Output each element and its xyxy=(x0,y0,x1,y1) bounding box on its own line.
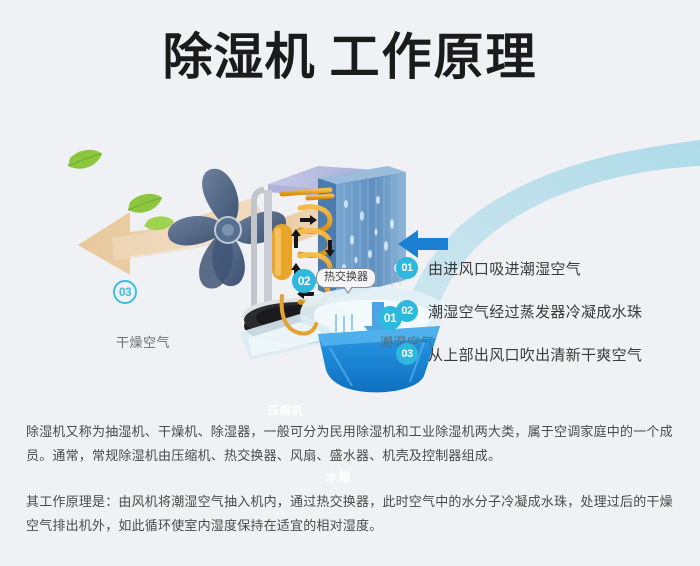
step-badge-02: 02 xyxy=(396,300,418,322)
step-text-03: 从上部出风口吹出清新干爽空气 xyxy=(428,344,642,365)
page-title: 除湿机工作原理 xyxy=(0,32,700,82)
diagram-badge-03: 03 xyxy=(113,280,137,304)
page-title-sub: 工作原理 xyxy=(330,29,538,85)
description-paragraph-1: 除湿机又称为抽湿机、干燥机、除湿器，一般可分为民用除湿机和工业除湿机两大类，属于… xyxy=(26,420,676,468)
description-block: 除湿机又称为抽湿机、干燥机、除湿器，一般可分为民用除湿机和工业除湿机两大类，属于… xyxy=(26,420,676,538)
steps-list: 01 由进风口吸进潮湿空气 02 潮湿空气经过蒸发器冷凝成水珠 03 从上部出风… xyxy=(396,255,686,384)
step-badge-01: 01 xyxy=(396,257,418,279)
page-root: 除湿机工作原理 xyxy=(0,0,700,566)
diagram-badge-02: 02 xyxy=(292,269,316,293)
step-text-01: 由进风口吸进潮湿空气 xyxy=(428,258,581,279)
accumulator-cylinder xyxy=(272,224,292,280)
step-badge-03: 03 xyxy=(396,343,418,365)
dry-air-label: 干燥空气 xyxy=(116,332,170,351)
compressor-label: 压缩机 xyxy=(268,402,303,418)
step-item-02: 02 潮湿空气经过蒸发器冷凝成水珠 xyxy=(396,298,686,324)
step-item-01: 01 由进风口吸进潮湿空气 xyxy=(396,255,686,281)
heat-exchanger-tooltip: 热交换器 xyxy=(316,268,376,288)
step-item-03: 03 从上部出风口吹出清新干爽空气 xyxy=(396,341,686,367)
description-paragraph-2: 其工作原理是：由风机将潮湿空气抽入机内，通过热交换器，此时空气中的水分子冷凝成水… xyxy=(26,490,676,538)
step-text-02: 潮湿空气经过蒸发器冷凝成水珠 xyxy=(428,301,642,322)
page-title-main: 除湿机 xyxy=(163,29,316,85)
